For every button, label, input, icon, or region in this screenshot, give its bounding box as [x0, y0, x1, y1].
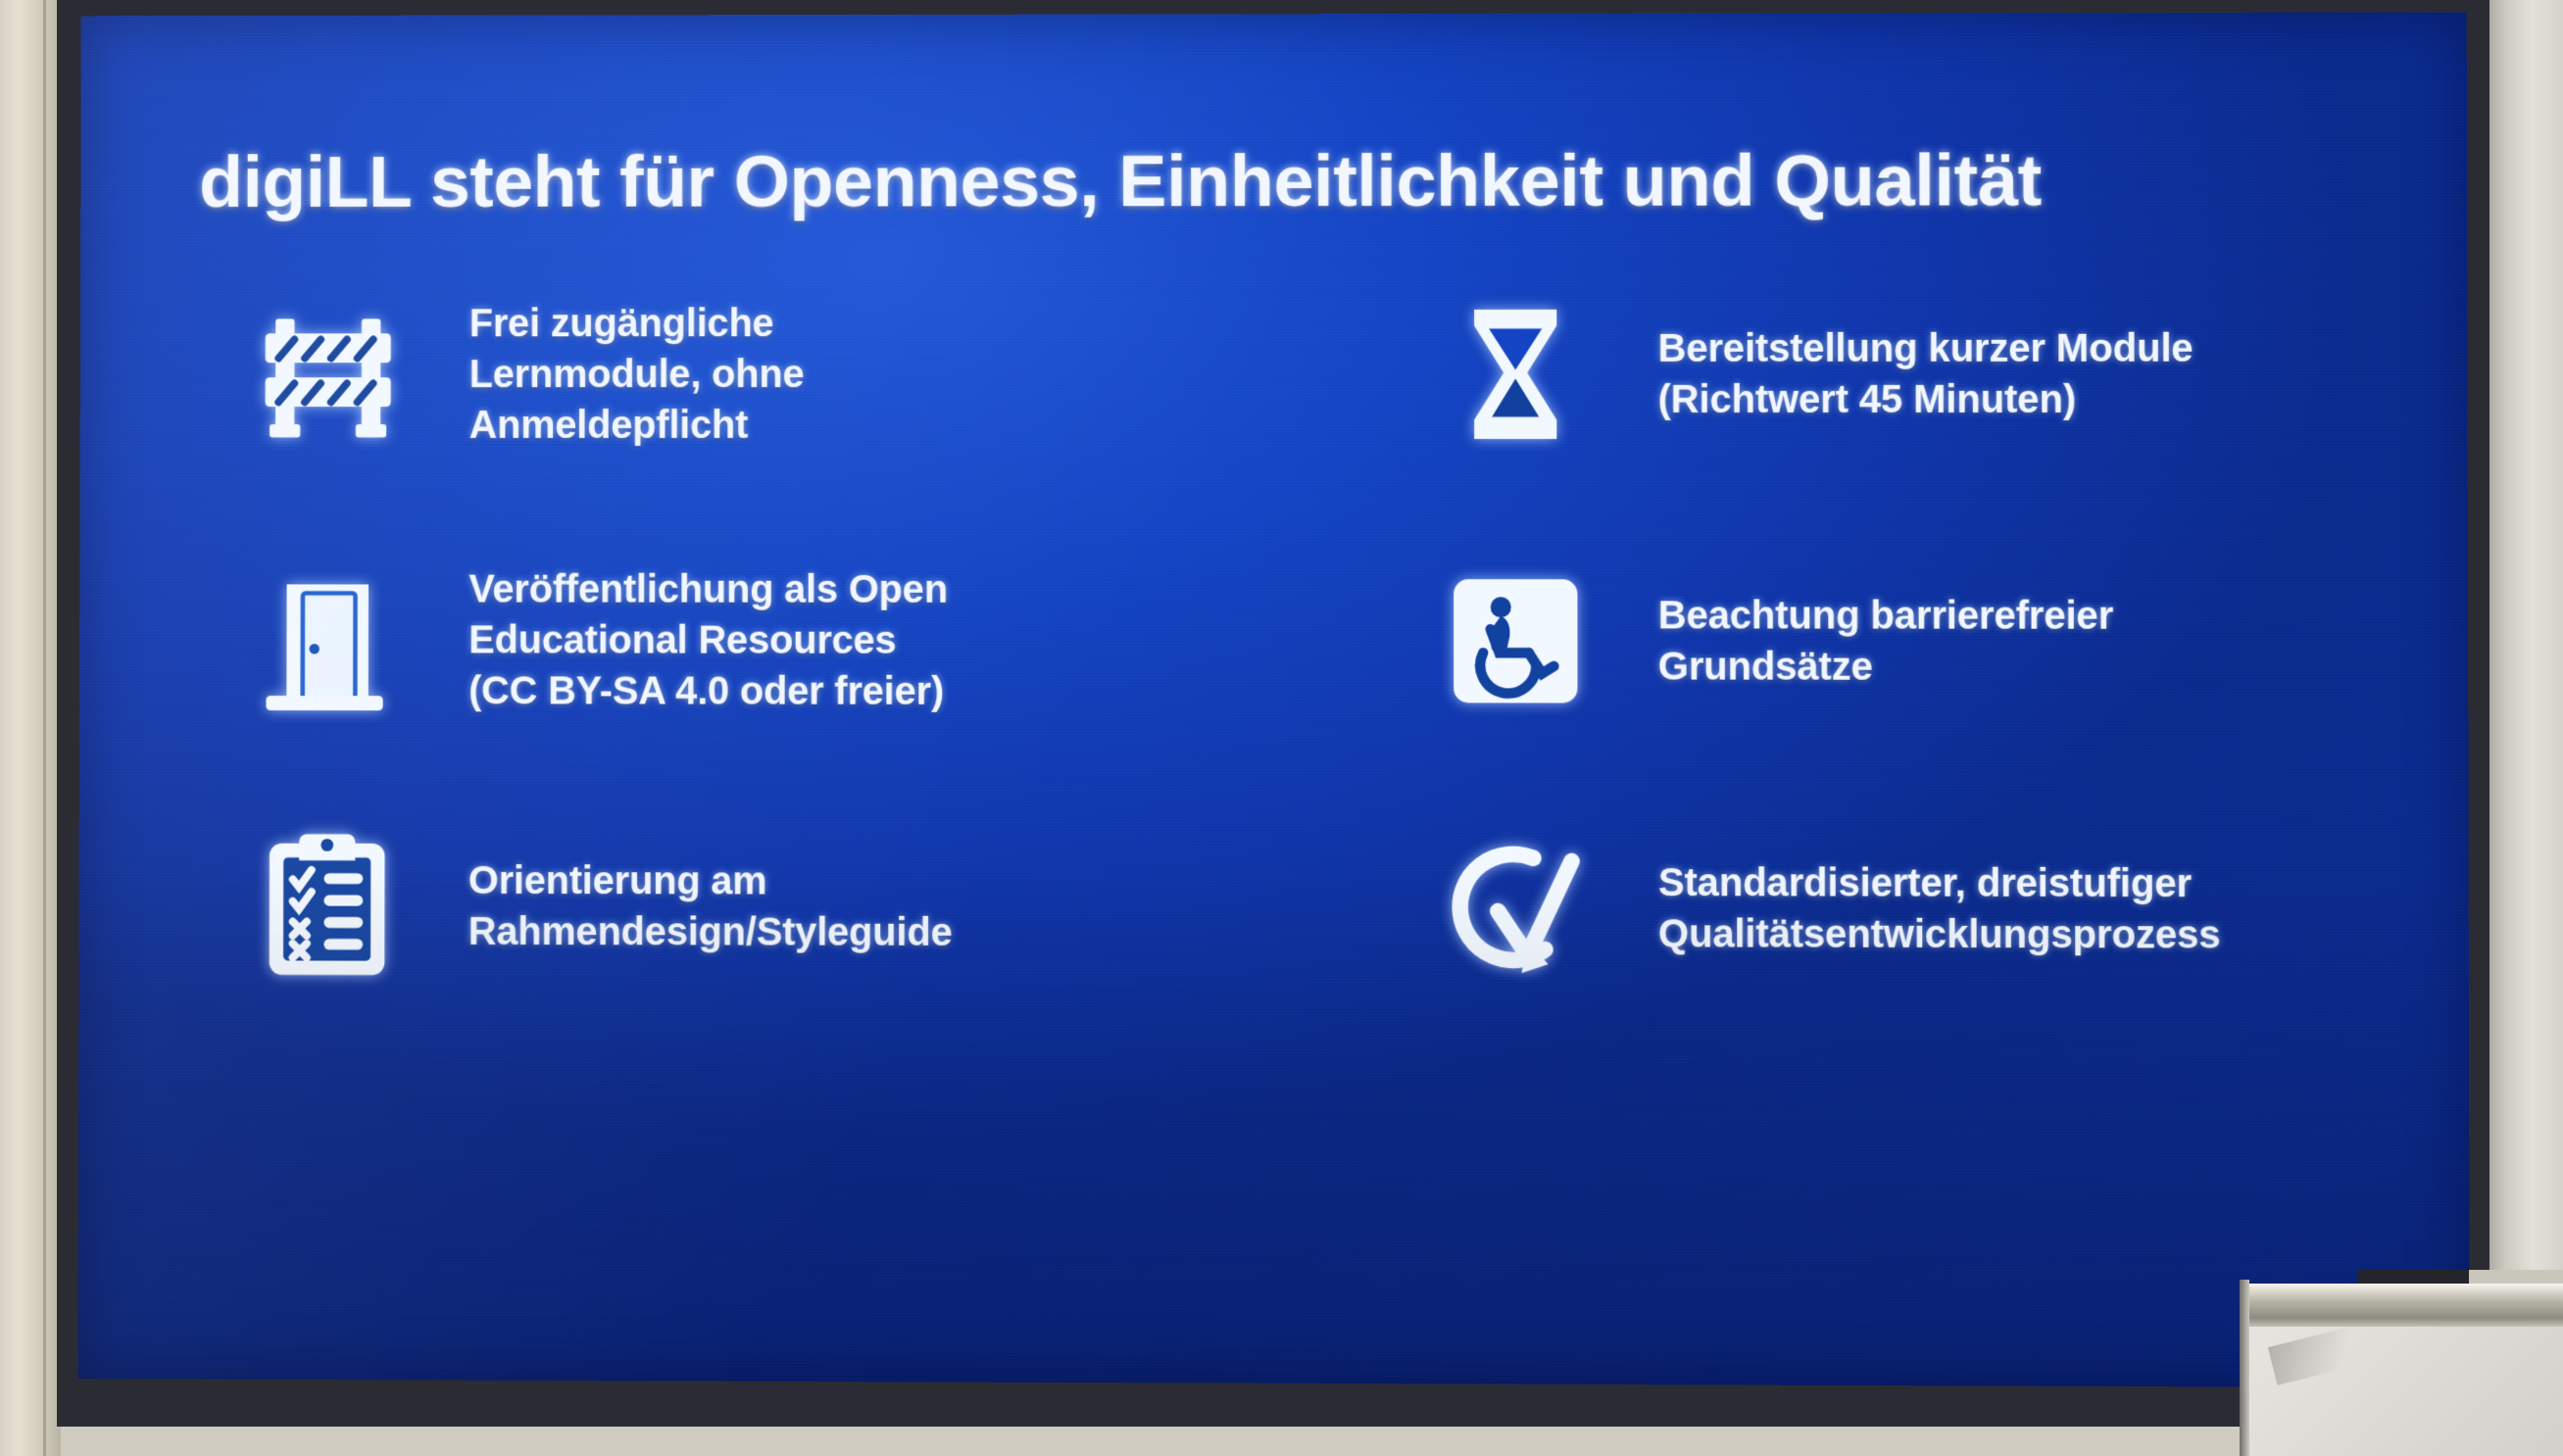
feature-text: Beachtung barrierefreier Grundsätze — [1658, 590, 2114, 693]
feature-text: Frei zugängliche Lernmodule, ohne Anmeld… — [469, 298, 805, 451]
feature-item-qualitaetsprozess: Standardisierter, dreistufiger Qualitäts… — [1285, 774, 2374, 1043]
flipchart-paper — [2249, 1327, 2563, 1456]
feature-line: Rahmendesign/Styleguide — [468, 906, 953, 958]
feature-line: Qualitätsentwicklungsprozess — [1658, 908, 2221, 960]
feature-item-barrierefreiheit: Beachtung barrierefreier Grundsätze — [1285, 508, 2374, 776]
flipchart-top-highlight — [2469, 1270, 2563, 1284]
feature-line: Orientierung am — [468, 855, 953, 907]
slide-title: digiLL steht für Openness, Einheitlichke… — [199, 138, 2335, 223]
feature-text: Veröffentlichung als Open Educational Re… — [468, 564, 948, 717]
feature-text: Bereitstellung kurzer Module (Richtwert … — [1658, 323, 2193, 425]
feature-item-frei-zugaengliche: Frei zugängliche Lernmodule, ohne Anmeld… — [187, 241, 1265, 508]
feature-line: Veröffentlichung als Open — [468, 564, 948, 615]
feature-line: (Richtwert 45 Minuten) — [1658, 374, 2193, 425]
feature-line: (CC BY-SA 4.0 oder freier) — [468, 665, 948, 716]
barrier-icon — [245, 291, 411, 457]
feature-line: Anmeldepflicht — [469, 400, 805, 451]
feature-line: Grundsätze — [1658, 641, 2114, 693]
clipboard-checklist-icon — [244, 823, 410, 990]
feature-text: Orientierung am Rahmendesign/Styleguide — [468, 855, 953, 958]
feature-item-kurze-module: Bereitstellung kurzer Module (Richtwert … — [1285, 240, 2373, 508]
feature-line: Frei zugängliche — [469, 298, 805, 349]
presentation-slide: digiLL steht für Openness, Einheitlichke… — [77, 12, 2469, 1387]
flipchart-edge — [2240, 1280, 2249, 1456]
feature-line: Beachtung barrierefreier — [1658, 590, 2113, 642]
hourglass-icon — [1432, 291, 1599, 458]
open-door-icon — [245, 557, 411, 723]
wall-right — [2487, 0, 2563, 1456]
cycle-checkmark-icon — [1432, 825, 1600, 993]
feature-line: Lernmodule, ohne — [469, 349, 805, 400]
feature-text: Standardisierter, dreistufiger Qualitäts… — [1658, 857, 2221, 961]
flipchart-rail — [2247, 1284, 2563, 1329]
feature-item-styleguide: Orientierung am Rahmendesign/Styleguide — [185, 773, 1265, 1042]
feature-line: Standardisierter, dreistufiger — [1658, 857, 2221, 909]
flipchart — [2240, 1270, 2563, 1456]
feature-line: Bereitstellung kurzer Module — [1658, 323, 2193, 374]
feature-grid: Frei zugängliche Lernmodule, ohne Anmeld… — [185, 240, 2374, 1225]
wheelchair-accessibility-icon — [1432, 558, 1599, 724]
feature-item-oer: Veröffentlichung als Open Educational Re… — [186, 508, 1265, 775]
wall-left — [0, 0, 61, 1456]
feature-line: Educational Resources — [468, 614, 948, 665]
photo-scene: digiLL steht für Openness, Einheitlichke… — [0, 0, 2563, 1456]
